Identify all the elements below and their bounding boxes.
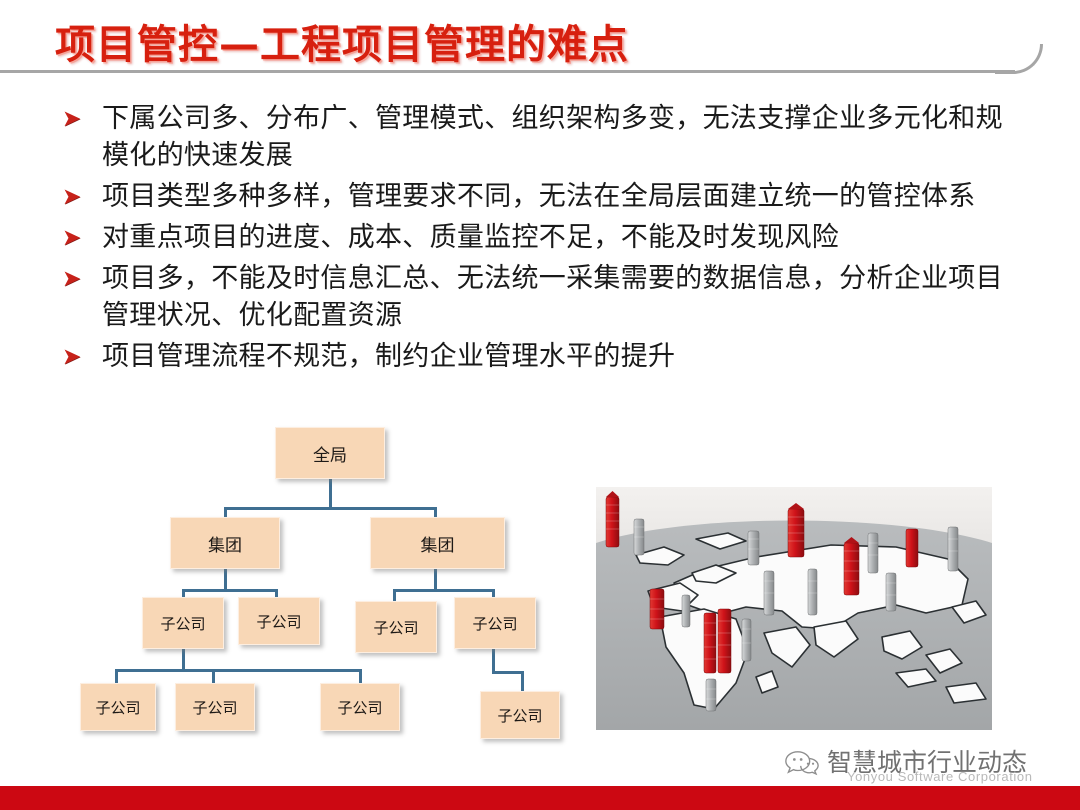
org-node-label: 子公司	[472, 613, 517, 634]
org-node-label: 子公司	[373, 617, 418, 638]
connector-level3-bus	[115, 669, 362, 672]
org-node-label: 子公司	[497, 705, 542, 726]
org-node-group-1[interactable]: 集团	[170, 517, 280, 569]
list-item-label: 对重点项目的进度、成本、质量监控不足，不能及时发现风险	[102, 219, 1028, 256]
arrow-bullet-icon: ➤	[58, 178, 102, 214]
list-item-label: 下属公司多、分布广、管理模式、组织架构多变，无法支撑企业多元化和规模化的快速发展	[102, 100, 1028, 174]
org-node-label: 子公司	[337, 697, 382, 718]
list-item: ➤ 项目多，不能及时信息汇总、无法统一采集需要的数据信息，分析企业项目管理状况、…	[58, 260, 1028, 334]
world-map-image	[596, 487, 992, 730]
connector-g2c2-bus	[492, 671, 524, 674]
org-node-sub-3[interactable]: 子公司	[355, 601, 437, 653]
org-node-sub-4[interactable]: 子公司	[454, 597, 536, 649]
org-node-sub-2[interactable]: 子公司	[238, 597, 320, 645]
title-divider-curve	[995, 44, 1043, 74]
org-node-sub-7[interactable]: 子公司	[320, 683, 400, 731]
list-item: ➤ 项目类型多种多样，管理要求不同，无法在全局层面建立统一的管控体系	[58, 178, 1028, 215]
connector-group2-down	[434, 569, 437, 591]
org-node-label: 集团	[208, 531, 242, 556]
arrow-bullet-icon: ➤	[58, 260, 102, 296]
footer-brand: 智慧城市行业动态 Yonyou Software Corporation	[785, 743, 1060, 787]
arrow-bullet-icon: ➤	[58, 219, 102, 255]
org-node-root[interactable]: 全局	[275, 427, 385, 479]
brand-watermark-label: Yonyou Software Corporation	[847, 769, 1033, 784]
connector-group1-down	[224, 569, 227, 591]
org-node-label: 子公司	[95, 697, 140, 718]
list-item: ➤ 下属公司多、分布广、管理模式、组织架构多变，无法支撑企业多元化和规模化的快速…	[58, 100, 1028, 174]
world-map-graphic	[596, 487, 992, 730]
list-item: ➤ 项目管理流程不规范，制约企业管理水平的提升	[58, 338, 1028, 375]
arrow-bullet-icon: ➤	[58, 100, 102, 136]
list-item-label: 项目管理流程不规范，制约企业管理水平的提升	[102, 338, 1028, 375]
slide-canvas: 项目管控—工程项目管理的难点 ➤ 下属公司多、分布广、管理模式、组织架构多变，无…	[0, 0, 1080, 810]
list-item-label: 项目多，不能及时信息汇总、无法统一采集需要的数据信息，分析企业项目管理状况、优化…	[102, 260, 1028, 334]
arrow-bullet-icon: ➤	[58, 338, 102, 374]
org-chart: 全局 集团 集团 子公司 子公司 子公司 子公司 子公司 子公司 子公司 子公司	[60, 425, 600, 745]
connector-root-bus	[224, 507, 436, 510]
connector-group2-bus	[393, 589, 495, 592]
org-node-sub-8[interactable]: 子公司	[480, 691, 560, 739]
page-title: 项目管控—工程项目管理的难点	[55, 12, 629, 70]
org-node-sub-6[interactable]: 子公司	[175, 683, 255, 731]
org-node-sub-1[interactable]: 子公司	[142, 597, 224, 649]
list-item: ➤ 对重点项目的进度、成本、质量监控不足，不能及时发现风险	[58, 219, 1028, 256]
connector-group1-bus	[182, 589, 278, 592]
connector-g2c2-down	[492, 649, 495, 673]
title-block: 项目管控—工程项目管理的难点	[0, 0, 1080, 78]
bullet-list: ➤ 下属公司多、分布广、管理模式、组织架构多变，无法支撑企业多元化和规模化的快速…	[58, 100, 1028, 379]
title-divider	[0, 70, 1015, 73]
list-item-label: 项目类型多种多样，管理要求不同，无法在全局层面建立统一的管控体系	[102, 178, 1028, 215]
connector-g1c1-down	[182, 649, 185, 671]
connector-root-down	[329, 479, 332, 509]
org-node-group-2[interactable]: 集团	[370, 517, 505, 569]
footer-accent-bar	[0, 786, 1080, 810]
org-node-sub-5[interactable]: 子公司	[80, 683, 156, 731]
org-node-label: 全局	[313, 441, 347, 466]
org-node-label: 集团	[421, 531, 455, 556]
org-node-label: 子公司	[160, 613, 205, 634]
org-node-label: 子公司	[256, 611, 301, 632]
org-node-label: 子公司	[192, 697, 237, 718]
wechat-icon	[785, 748, 819, 776]
connector-to-l3d	[521, 671, 524, 693]
